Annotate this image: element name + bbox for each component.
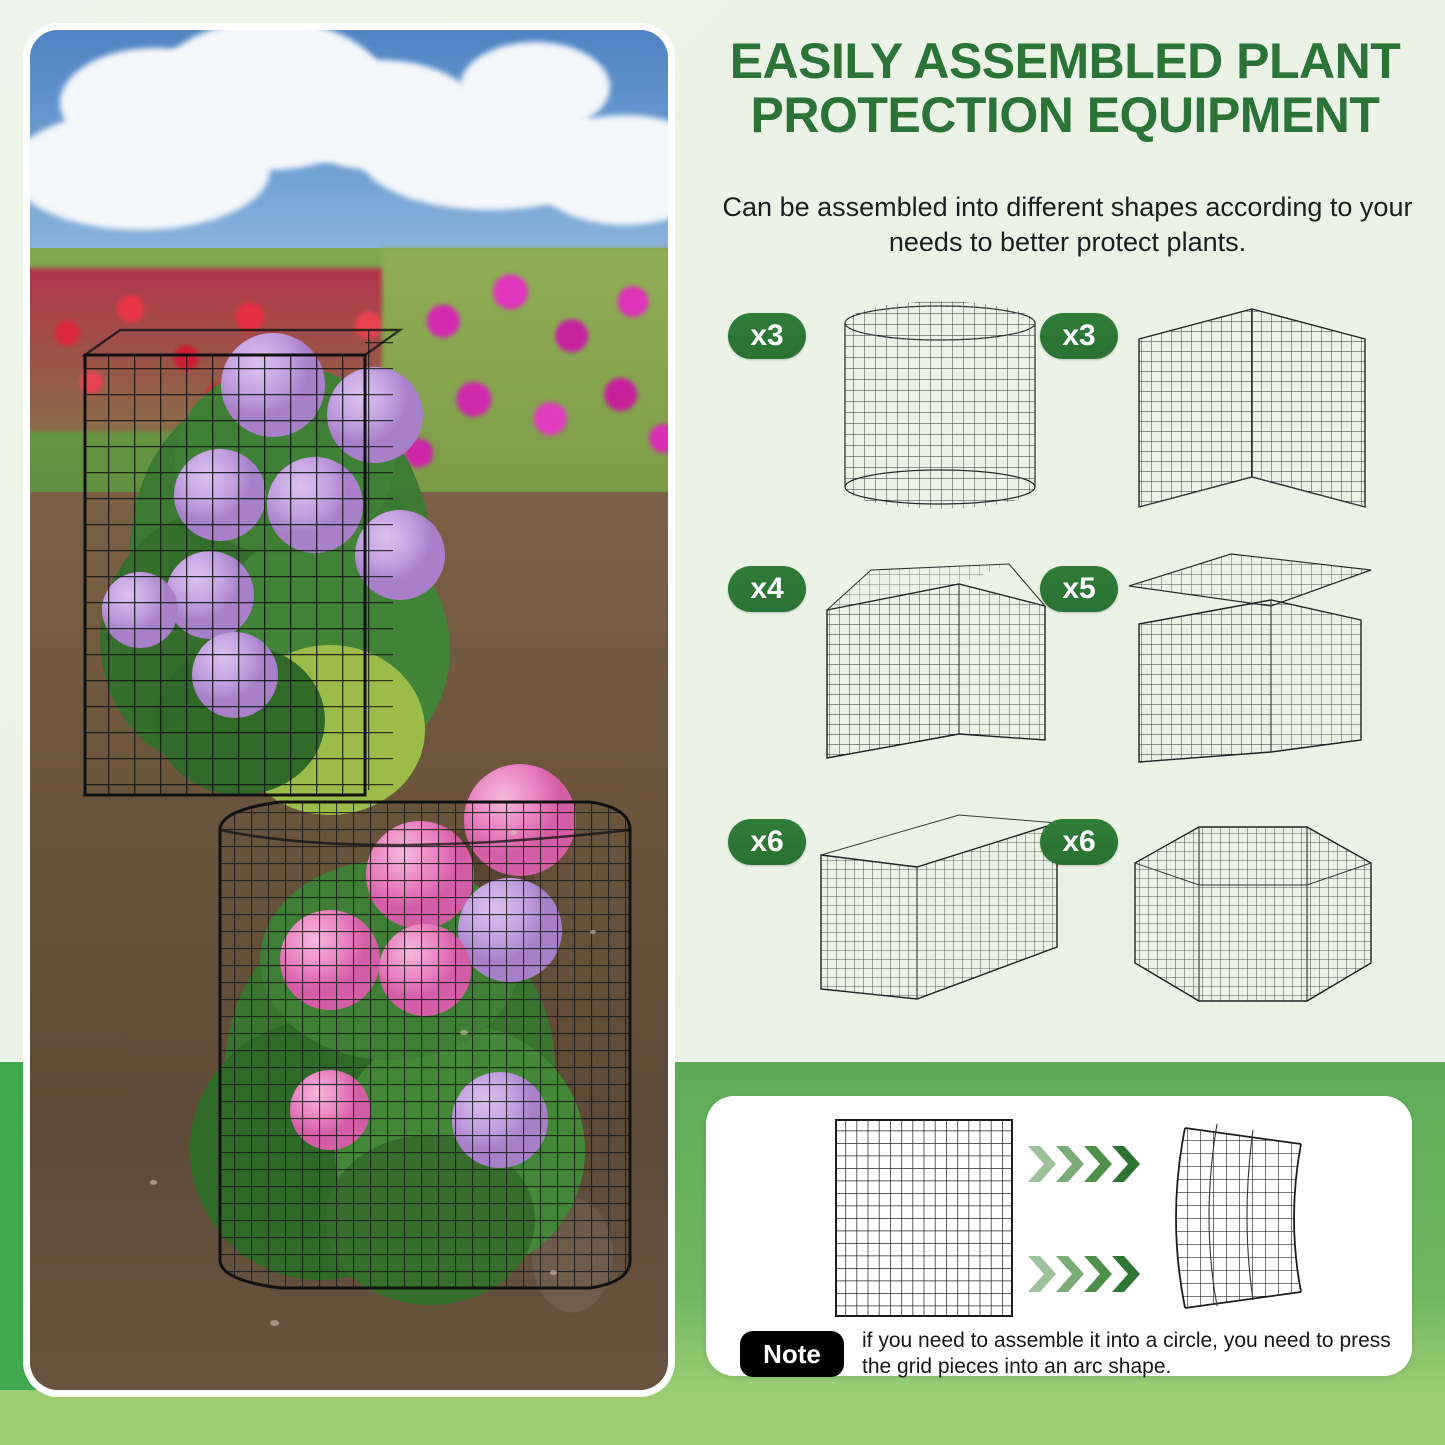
upper-wire-cage bbox=[85, 330, 400, 795]
bottom-green-band bbox=[0, 1390, 1445, 1445]
lower-wire-cage bbox=[220, 802, 630, 1288]
config-open-box: x4 bbox=[714, 538, 1074, 788]
infographic-page: EASILY ASSEMBLED PLANT PROTECTION EQUIPM… bbox=[0, 0, 1445, 1445]
flat-grid-panel-icon bbox=[834, 1118, 1014, 1318]
assembly-note-panel: Note if you need to assemble it into a c… bbox=[706, 1096, 1412, 1376]
arc-shaped-grid-panel-icon bbox=[1161, 1114, 1321, 1322]
product-photo bbox=[30, 30, 668, 1390]
page-subtitle: Can be assembled into different shapes a… bbox=[710, 190, 1425, 259]
right-content-column: EASILY ASSEMBLED PLANT PROTECTION EQUIPM… bbox=[690, 0, 1445, 1045]
config-cylinder: x3 bbox=[714, 285, 1074, 535]
shape-triangular-cage bbox=[1121, 291, 1383, 526]
config-triangle: x3 bbox=[1026, 285, 1386, 535]
page-title: EASILY ASSEMBLED PLANT PROTECTION EQUIPM… bbox=[695, 34, 1435, 142]
quantity-badge-triangle: x3 bbox=[1040, 313, 1118, 359]
shape-hexagonal-cage bbox=[1121, 797, 1383, 1032]
quantity-badge-long-box: x6 bbox=[728, 819, 806, 865]
chevron-arrows-top bbox=[1028, 1144, 1150, 1184]
quantity-badge-hexagon: x6 bbox=[1040, 819, 1118, 865]
shape-box-with-lid-cage bbox=[1121, 544, 1383, 779]
product-photo-frame bbox=[24, 24, 674, 1396]
photo-plants-and-cages bbox=[30, 30, 668, 1390]
note-text: if you need to assemble it into a circle… bbox=[862, 1328, 1400, 1381]
configuration-grid: x3 bbox=[690, 285, 1445, 1035]
note-badge: Note bbox=[740, 1331, 844, 1377]
quantity-badge-cylinder: x3 bbox=[728, 313, 806, 359]
quantity-badge-open-box: x4 bbox=[728, 566, 806, 612]
note-row: Note if you need to assemble it into a c… bbox=[740, 1328, 1400, 1381]
config-box-with-lid: x5 bbox=[1026, 538, 1386, 788]
chevron-arrows-bottom bbox=[1028, 1254, 1150, 1294]
config-long-box: x6 bbox=[714, 791, 1074, 1041]
config-hexagon: x6 bbox=[1026, 791, 1386, 1041]
quantity-badge-box-lid: x5 bbox=[1040, 566, 1118, 612]
